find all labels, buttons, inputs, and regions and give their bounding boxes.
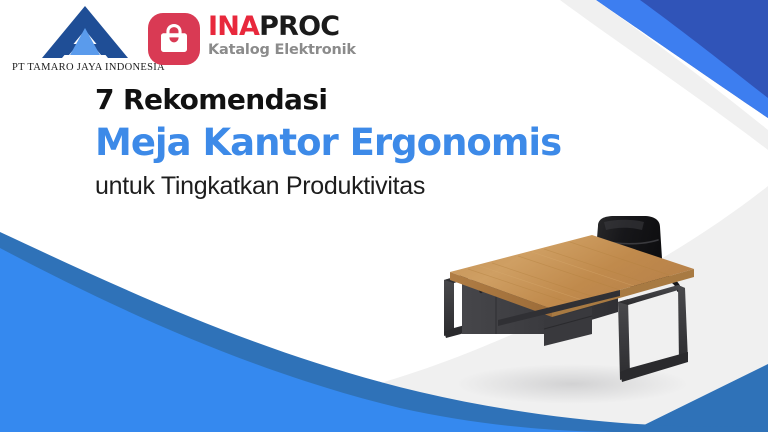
partner-title-part2: PROC xyxy=(259,11,339,42)
headline-subtitle: untuk Tingkatkan Produktivitas xyxy=(95,172,655,200)
partner-logo: INAPROC Katalog Elektronik xyxy=(148,11,348,69)
headline-eyebrow: 7 Rekomendasi xyxy=(95,84,655,115)
partner-title-part1: INA xyxy=(208,11,259,42)
shopping-bag-icon xyxy=(161,24,187,52)
office-desk-and-chair-photo xyxy=(432,216,712,406)
triangle-a-monogram-icon xyxy=(42,6,128,58)
partner-title: INAPROC xyxy=(208,13,356,40)
company-logo: PT TAMARO JAYA INDONESIA xyxy=(12,6,152,82)
promo-banner: PT TAMARO JAYA INDONESIA INAPROC Katalog… xyxy=(0,0,768,432)
partner-wordmark: INAPROC Katalog Elektronik xyxy=(208,13,356,58)
headline-block: 7 Rekomendasi Meja Kantor Ergonomis untu… xyxy=(95,84,655,200)
desk-right-leg xyxy=(618,285,688,382)
logo-row: PT TAMARO JAYA INDONESIA INAPROC Katalog… xyxy=(0,0,420,86)
headline-main: Meja Kantor Ergonomis xyxy=(95,122,655,163)
partner-tagline: Katalog Elektronik xyxy=(208,43,356,58)
company-name: PT TAMARO JAYA INDONESIA xyxy=(12,62,152,73)
